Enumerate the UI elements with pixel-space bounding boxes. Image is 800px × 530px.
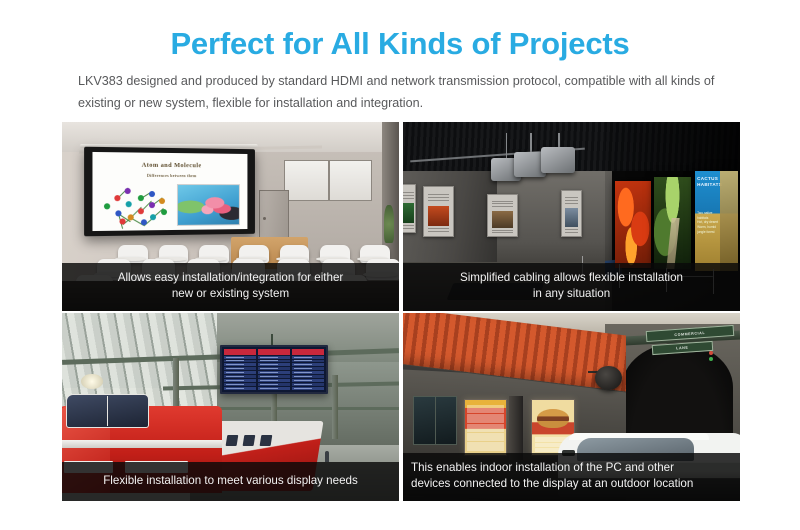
board-row <box>292 356 324 359</box>
gallery-caption: This enables indoor installation of the … <box>403 453 740 501</box>
exhibit-poster <box>403 184 416 233</box>
board-header <box>292 349 324 355</box>
gallery-caption: Flexible installation to meet various di… <box>62 462 399 501</box>
gallery-item-drive-thru[interactable]: COMMERCIAL LANE <box>403 313 740 501</box>
board-row <box>292 383 324 386</box>
board-row <box>258 360 290 363</box>
board-column <box>292 349 324 390</box>
train-windshield <box>66 394 148 428</box>
board-row <box>224 371 256 374</box>
board-row <box>292 360 324 363</box>
board-row <box>258 367 290 370</box>
board-row <box>258 375 290 378</box>
room-window-icon <box>284 160 372 202</box>
slide-photo <box>176 184 240 226</box>
building-window-icon <box>413 396 457 445</box>
board-row <box>292 375 324 378</box>
gallery-item-train-station[interactable]: Flexible installation to meet various di… <box>62 313 399 501</box>
board-row <box>224 363 256 366</box>
display-body-text: Two native habitats Hot, dry desert Warm… <box>697 211 735 234</box>
board-row <box>292 371 324 374</box>
burger-image-icon <box>537 409 569 427</box>
video-wall-panel-2 <box>654 177 691 270</box>
outdoor-lamp-icon <box>595 366 622 390</box>
spotlight-icon <box>541 147 575 173</box>
slide-title: Atom and Molecule <box>92 161 247 169</box>
board-row <box>224 360 256 363</box>
board-header <box>258 349 290 355</box>
train-headlight-icon <box>81 374 103 389</box>
slide-subtitle: Differences between them <box>92 174 247 179</box>
video-wall-panel-1 <box>615 181 650 268</box>
board-row <box>292 363 324 366</box>
page-title: Perfect for All Kinds of Projects <box>0 26 800 62</box>
traffic-light-icon <box>709 351 713 355</box>
projection-screen: Atom and Molecule Differences between th… <box>84 147 255 237</box>
display-title: CACTUS HABITATS <box>697 176 736 188</box>
board-row <box>258 363 290 366</box>
video-wall-panel-3: CACTUS HABITATS Two native habitats Hot,… <box>695 171 739 271</box>
gallery-item-museum-gallery[interactable]: CACTUS HABITATS Two native habitats Hot,… <box>403 122 740 311</box>
exhibit-poster <box>423 186 453 237</box>
board-row <box>258 356 290 359</box>
page-subtitle: LKV383 designed and produced by standard… <box>78 70 738 114</box>
board-row <box>224 356 256 359</box>
board-row <box>224 375 256 378</box>
board-row <box>258 371 290 374</box>
plant-icon <box>384 205 394 243</box>
menu-display-1 <box>464 399 508 455</box>
presentation-slide: Atom and Molecule Differences between th… <box>92 153 247 232</box>
photo-grid: Atom and Molecule Differences between th… <box>62 122 740 501</box>
exhibit-poster <box>487 194 517 237</box>
board-row <box>292 379 324 382</box>
exhibit-poster <box>561 190 581 237</box>
board-header <box>224 349 256 355</box>
gallery-caption: Simplified cabling allows flexible insta… <box>403 263 740 311</box>
board-row <box>224 367 256 370</box>
board-row <box>292 367 324 370</box>
gallery-caption: Allows easy installation/integration for… <box>62 263 399 311</box>
molecule-diagram-icon <box>102 186 169 225</box>
slide-page: Perfect for All Kinds of Projects LKV383… <box>0 0 800 530</box>
board-row <box>292 387 324 390</box>
gallery-item-lecture-hall[interactable]: Atom and Molecule Differences between th… <box>62 122 399 311</box>
